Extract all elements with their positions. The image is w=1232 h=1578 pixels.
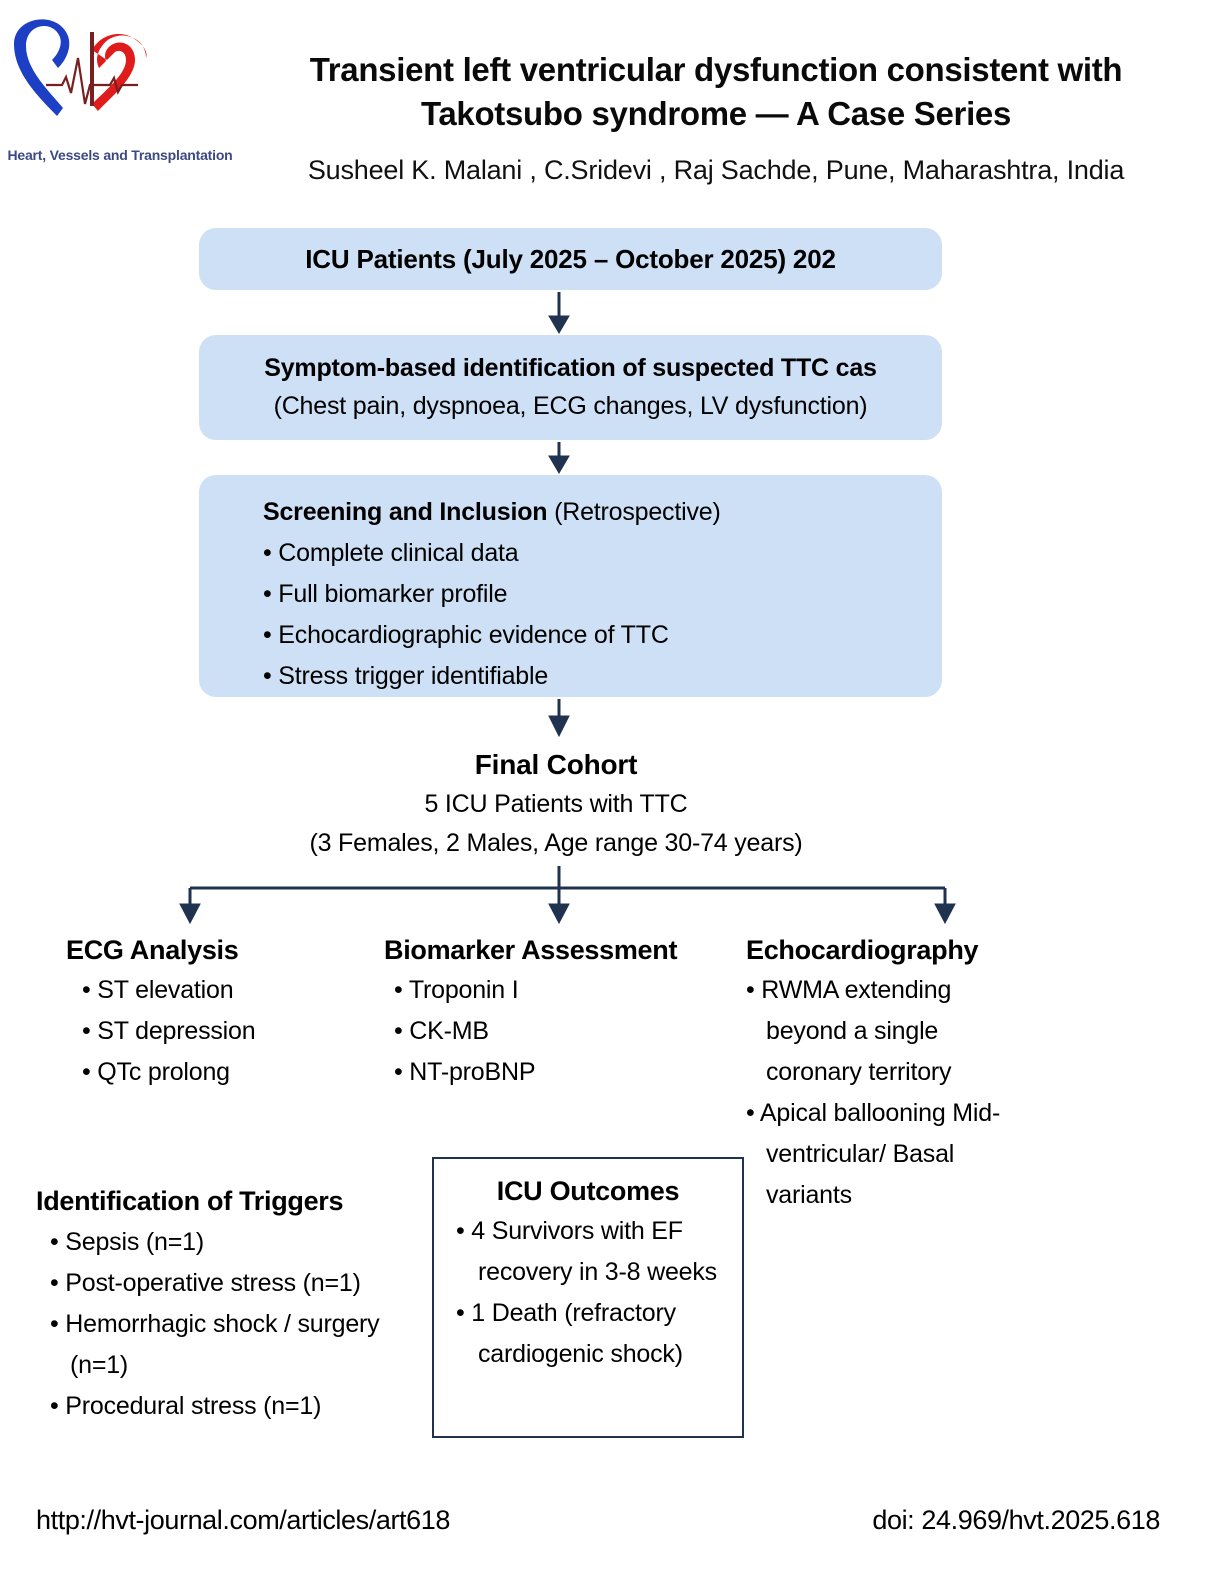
final-cohort-block: Final Cohort 5 ICU Patients with TTC (3 … <box>216 745 896 863</box>
screening-heading-rest: (Retrospective) <box>547 498 720 526</box>
list-item: • Stress trigger identifiable <box>263 656 942 697</box>
ecg-analysis-list: • ST elevation • ST depression • QTc pro… <box>66 970 366 1093</box>
icu-outcomes-box: ICU Outcomes • 4 Survivors with EF recov… <box>432 1157 744 1438</box>
list-item: • Complete clinical data <box>263 533 942 574</box>
list-item: • ST depression <box>82 1011 366 1052</box>
list-item: • ST elevation <box>82 970 366 1011</box>
list-item: • CK-MB <box>394 1011 729 1052</box>
list-item: • Echocardiographic evidence of TTC <box>263 615 942 656</box>
list-item: • 4 Survivors with EF recovery in 3-8 we… <box>456 1211 728 1293</box>
identification-of-triggers-block: Identification of Triggers • Sepsis (n=1… <box>36 1180 436 1427</box>
final-cohort-line-2: (3 Females, 2 Males, Age range 30-74 yea… <box>216 824 896 863</box>
icu-outcomes-title: ICU Outcomes <box>448 1171 728 1211</box>
article-doi: doi: 24.969/hvt.2025.618 <box>872 1505 1160 1536</box>
biomarker-assessment-title: Biomarker Assessment <box>384 930 729 970</box>
title-line-2: Takotsubo syndrome — A Case Series <box>216 92 1216 136</box>
page-title: Transient left ventricular dysfunction c… <box>216 48 1216 136</box>
final-cohort-line-1: 5 ICU Patients with TTC <box>216 785 896 824</box>
ecg-analysis-title: ECG Analysis <box>66 930 366 970</box>
list-item: • RWMA extending beyond a single coronar… <box>746 970 1036 1093</box>
screening-list: • Complete clinical data • Full biomarke… <box>263 533 942 697</box>
heart-ecg-logo-icon <box>6 8 156 128</box>
list-item: • Sepsis (n=1) <box>50 1222 436 1263</box>
flow-box-symptom-identification: Symptom-based identification of suspecte… <box>199 335 942 440</box>
list-item: • QTc prolong <box>82 1052 366 1093</box>
echocardiography-title: Echocardiography <box>746 930 1036 970</box>
branch-column-echocardiography: Echocardiography • RWMA extending beyond… <box>746 930 1036 1216</box>
authors-line: Susheel K. Malani , C.Sridevi , Raj Sach… <box>216 152 1216 188</box>
symptom-line-2: (Chest pain, dyspnoea, ECG changes, LV d… <box>199 387 942 425</box>
echocardiography-list: • RWMA extending beyond a single coronar… <box>746 970 1036 1216</box>
list-item: • Procedural stress (n=1) <box>50 1386 436 1427</box>
list-item: • Troponin I <box>394 970 729 1011</box>
screening-heading: Screening and Inclusion (Retrospective) <box>263 491 942 533</box>
flow-box-screening-inclusion: Screening and Inclusion (Retrospective) … <box>199 475 942 697</box>
triggers-list: • Sepsis (n=1) • Post-operative stress (… <box>36 1222 436 1427</box>
triggers-title: Identification of Triggers <box>36 1180 436 1222</box>
list-item: • Apical ballooning Mid-ventricular/ Bas… <box>746 1093 1036 1216</box>
journal-logo: Heart, Vessels and Transplantation <box>4 8 236 158</box>
icu-outcomes-list: • 4 Survivors with EF recovery in 3-8 we… <box>448 1211 728 1375</box>
branch-column-ecg-analysis: ECG Analysis • ST elevation • ST depress… <box>66 930 366 1093</box>
symptom-line-1: Symptom-based identification of suspecte… <box>199 349 942 387</box>
biomarker-assessment-list: • Troponin I • CK-MB • NT-proBNP <box>384 970 729 1093</box>
final-cohort-title: Final Cohort <box>216 745 896 785</box>
title-line-1: Transient left ventricular dysfunction c… <box>216 48 1216 92</box>
flow-box-icu-patients: ICU Patients (July 2025 – October 2025) … <box>199 228 942 290</box>
icu-patients-text: ICU Patients (July 2025 – October 2025) … <box>199 228 942 290</box>
list-item: • 1 Death (refractory cardiogenic shock) <box>456 1293 728 1375</box>
list-item: • NT-proBNP <box>394 1052 729 1093</box>
list-item: • Hemorrhagic shock / surgery (n=1) <box>50 1304 436 1386</box>
article-url[interactable]: http://hvt-journal.com/articles/art618 <box>36 1505 450 1536</box>
logo-caption: Heart, Vessels and Transplantation <box>4 147 236 163</box>
list-item: • Full biomarker profile <box>263 574 942 615</box>
branch-column-biomarker-assessment: Biomarker Assessment • Troponin I • CK-M… <box>384 930 729 1093</box>
screening-heading-bold: Screening and Inclusion <box>263 498 547 526</box>
list-item: • Post-operative stress (n=1) <box>50 1263 436 1304</box>
